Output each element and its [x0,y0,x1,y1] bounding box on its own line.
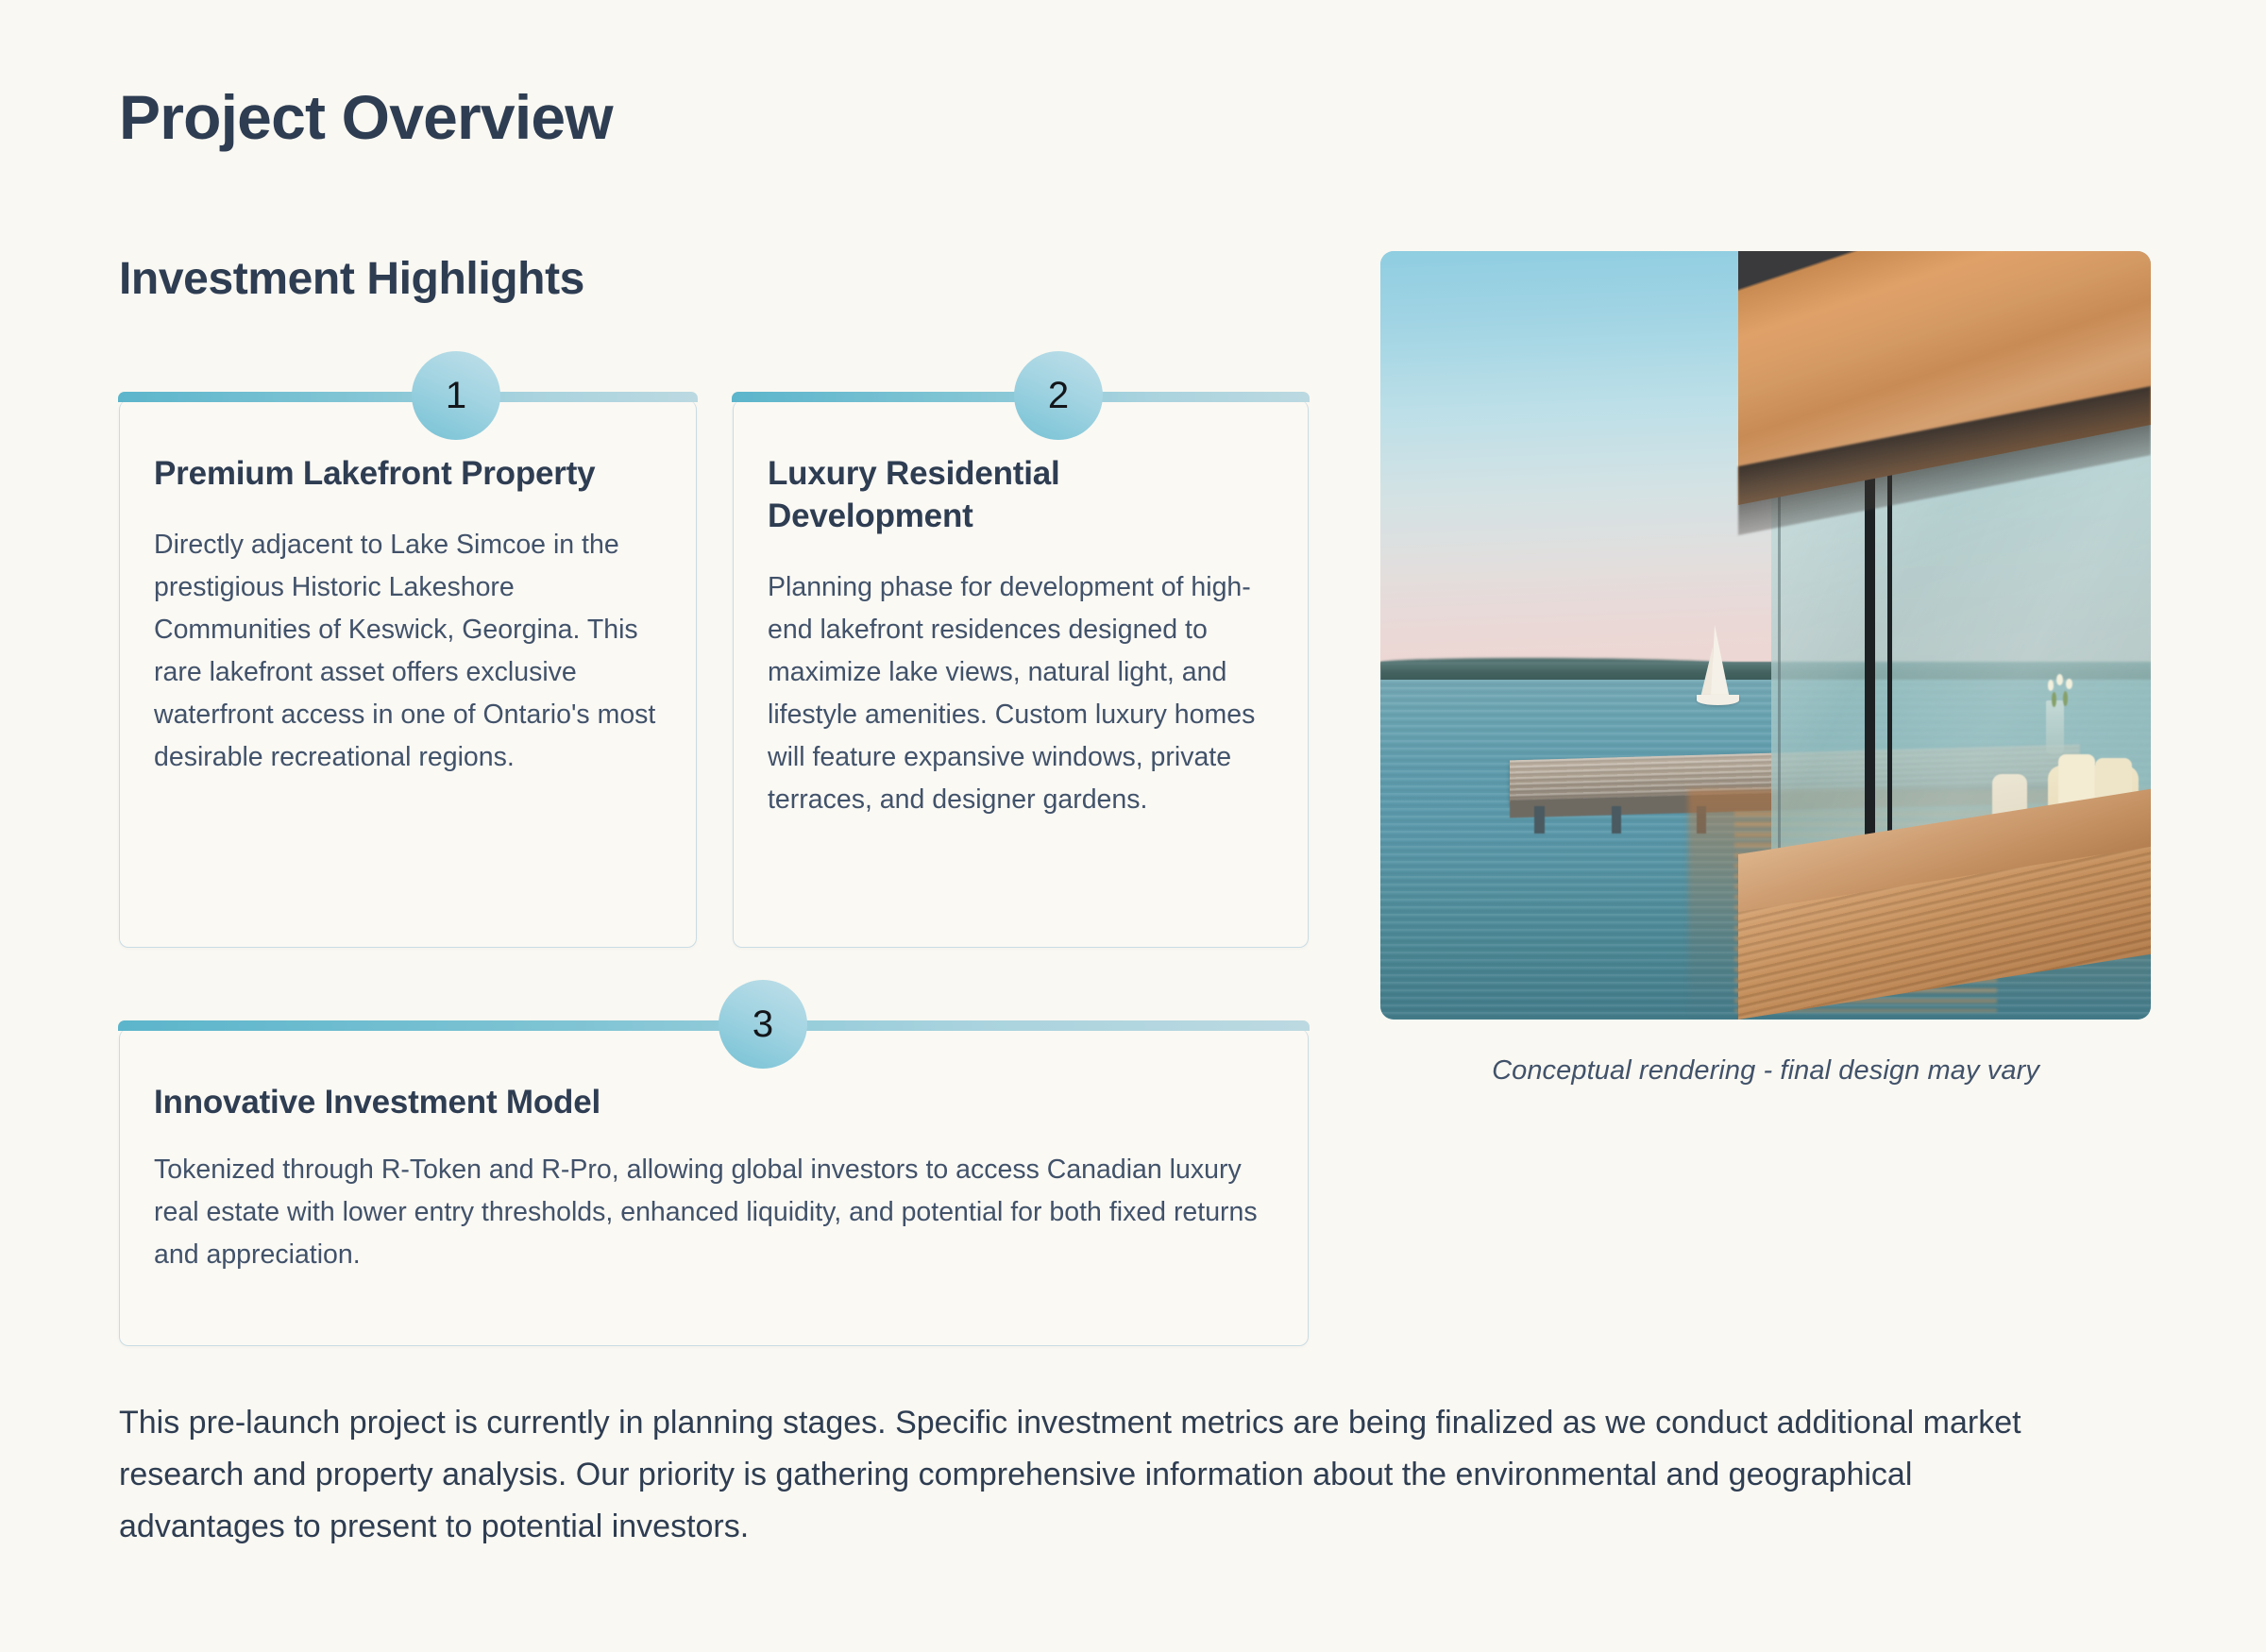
flower-bloom-icon [2048,680,2055,690]
card-number-badge: 2 [1014,351,1103,440]
card-body-text: Tokenized through R-Token and R-Pro, all… [154,1149,1274,1276]
leaf-icon [2063,691,2068,706]
lakefront-house-image [1380,251,2151,1020]
card-body-text: Directly adjacent to Lake Simcoe in the … [154,524,662,779]
highlight-card-3[interactable]: 3 Innovative Investment Model Tokenized … [119,1029,1309,1346]
photo-caption: Conceptual rendering - final design may … [1380,1055,2151,1087]
card-heading: Luxury Residential Development [768,453,1274,538]
project-status-note: This pre-launch project is currently in … [119,1397,2073,1553]
section-title-investment-highlights: Investment Highlights [119,253,584,305]
card-heading: Premium Lakefront Property [154,453,662,496]
dock-post [1534,806,1545,834]
flower-bloom-icon [2066,679,2072,689]
sailboat-hull-icon [1697,695,1740,705]
highlight-card-2[interactable]: 2 Luxury Residential Development Plannin… [733,400,1309,948]
card-body-text: Planning phase for development of high-e… [768,566,1274,821]
card-content: Luxury Residential Development Planning … [734,400,1308,863]
card-content: Innovative Investment Model Tokenized th… [120,1029,1308,1314]
card-number-badge: 3 [719,980,807,1069]
card-content: Premium Lakefront Property Directly adja… [120,400,696,820]
card-accent-bar [118,392,697,402]
project-overview-page: Project Overview Investment Highlights 1… [0,0,2266,1652]
project-rendering-photo [1380,251,2151,1020]
card-heading: Innovative Investment Model [154,1082,1274,1124]
dock-post [1612,806,1622,834]
highlight-card-1[interactable]: 1 Premium Lakefront Property Directly ad… [119,400,697,948]
sailboat-main-sail-icon [1711,625,1733,699]
card-accent-bar [118,1020,1309,1031]
card-number-badge: 1 [412,351,500,440]
interior-vase [2046,700,2065,754]
page-title: Project Overview [119,83,613,152]
